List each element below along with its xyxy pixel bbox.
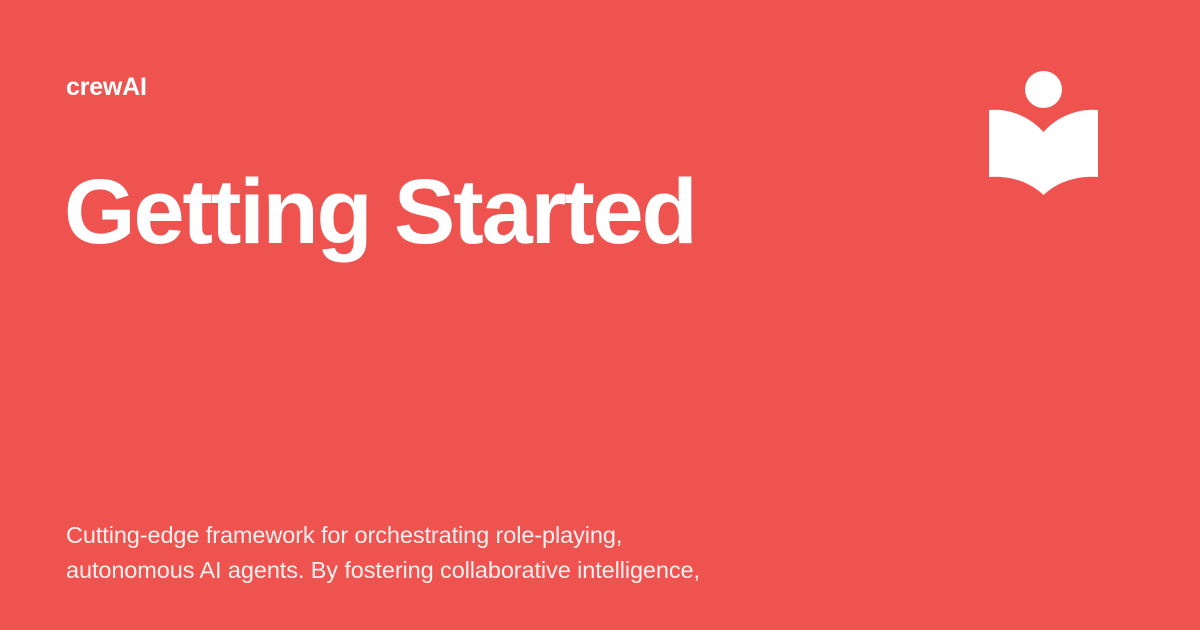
page-title: Getting Started <box>64 160 1064 264</box>
og-preview-card: crewAI Getting Started Cutting-edge fram… <box>0 0 1200 630</box>
brand-name: crewAI <box>66 72 147 102</box>
page-description: Cutting-edge framework for orchestrating… <box>66 518 866 588</box>
